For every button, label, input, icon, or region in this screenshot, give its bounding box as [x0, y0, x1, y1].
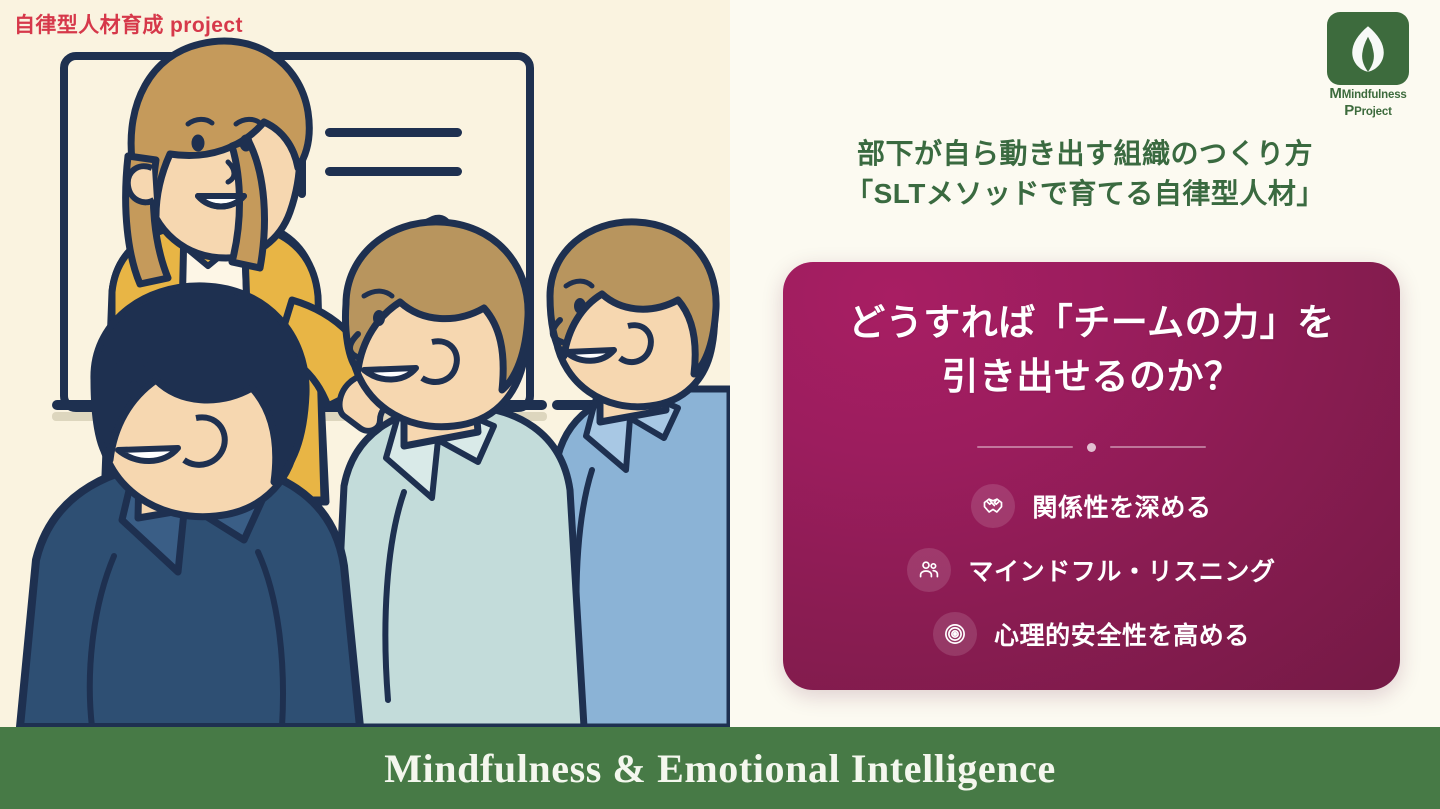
headline-line2: 「SLTメソッドで育てる自律型人材」 — [766, 174, 1404, 214]
right-column: MMindfulness PProject 部下が自ら動き出す組織のつくり方 「… — [730, 0, 1440, 727]
leaf-flame-mark-icon — [1340, 21, 1396, 77]
bullet-label: 心理的安全性を高める — [994, 616, 1250, 652]
people-icon — [907, 548, 951, 592]
card-divider — [976, 442, 1208, 452]
target-icon — [933, 612, 977, 656]
logo-wordmark: MMindfulness PProject — [1322, 86, 1414, 118]
banner-title: Mindfulness & Emotional Intelligence — [384, 745, 1056, 792]
meeting-illustration — [0, 0, 730, 727]
brand-logo: MMindfulness PProject — [1322, 12, 1414, 118]
divider-line-right — [1110, 446, 1206, 448]
logo-line2: Project — [1354, 106, 1392, 118]
logo-line1: Mindfulness — [1342, 89, 1407, 101]
bullet-label: 関係性を深める — [1032, 488, 1211, 524]
slide-root: 自律型人材育成 project — [0, 0, 1440, 809]
logo-badge — [1327, 12, 1409, 85]
handshake-icon — [971, 484, 1015, 528]
illustration-panel: 自律型人材育成 project — [0, 0, 730, 727]
bullet-item-safety: 心理的安全性を高める — [783, 612, 1400, 656]
divider-dot — [1087, 443, 1096, 452]
bullet-item-relationship: 関係性を深める — [783, 484, 1400, 528]
card-title: どうすれば「チームの力」を 引き出せるのか？ — [783, 296, 1400, 404]
card-title-line2: 引き出せるのか？ — [783, 350, 1400, 404]
kicker-label: 自律型人材育成 project — [14, 9, 243, 39]
bullet-item-listening: マインドフル・リスニング — [783, 548, 1400, 592]
bullet-list: 関係性を深める マインドフル・リスニング — [783, 484, 1400, 656]
question-card: どうすれば「チームの力」を 引き出せるのか？ — [783, 262, 1400, 690]
bullet-label: マインドフル・リスニング — [968, 552, 1275, 588]
headline: 部下が自ら動き出す組織のつくり方 「SLTメソッドで育てる自律型人材」 — [730, 134, 1440, 214]
card-title-line1: どうすれば「チームの力」を — [783, 296, 1400, 350]
divider-line-left — [977, 446, 1073, 448]
headline-line1: 部下が自ら動き出す組織のつくり方 — [766, 134, 1404, 174]
bottom-banner: Mindfulness & Emotional Intelligence — [0, 727, 1440, 809]
